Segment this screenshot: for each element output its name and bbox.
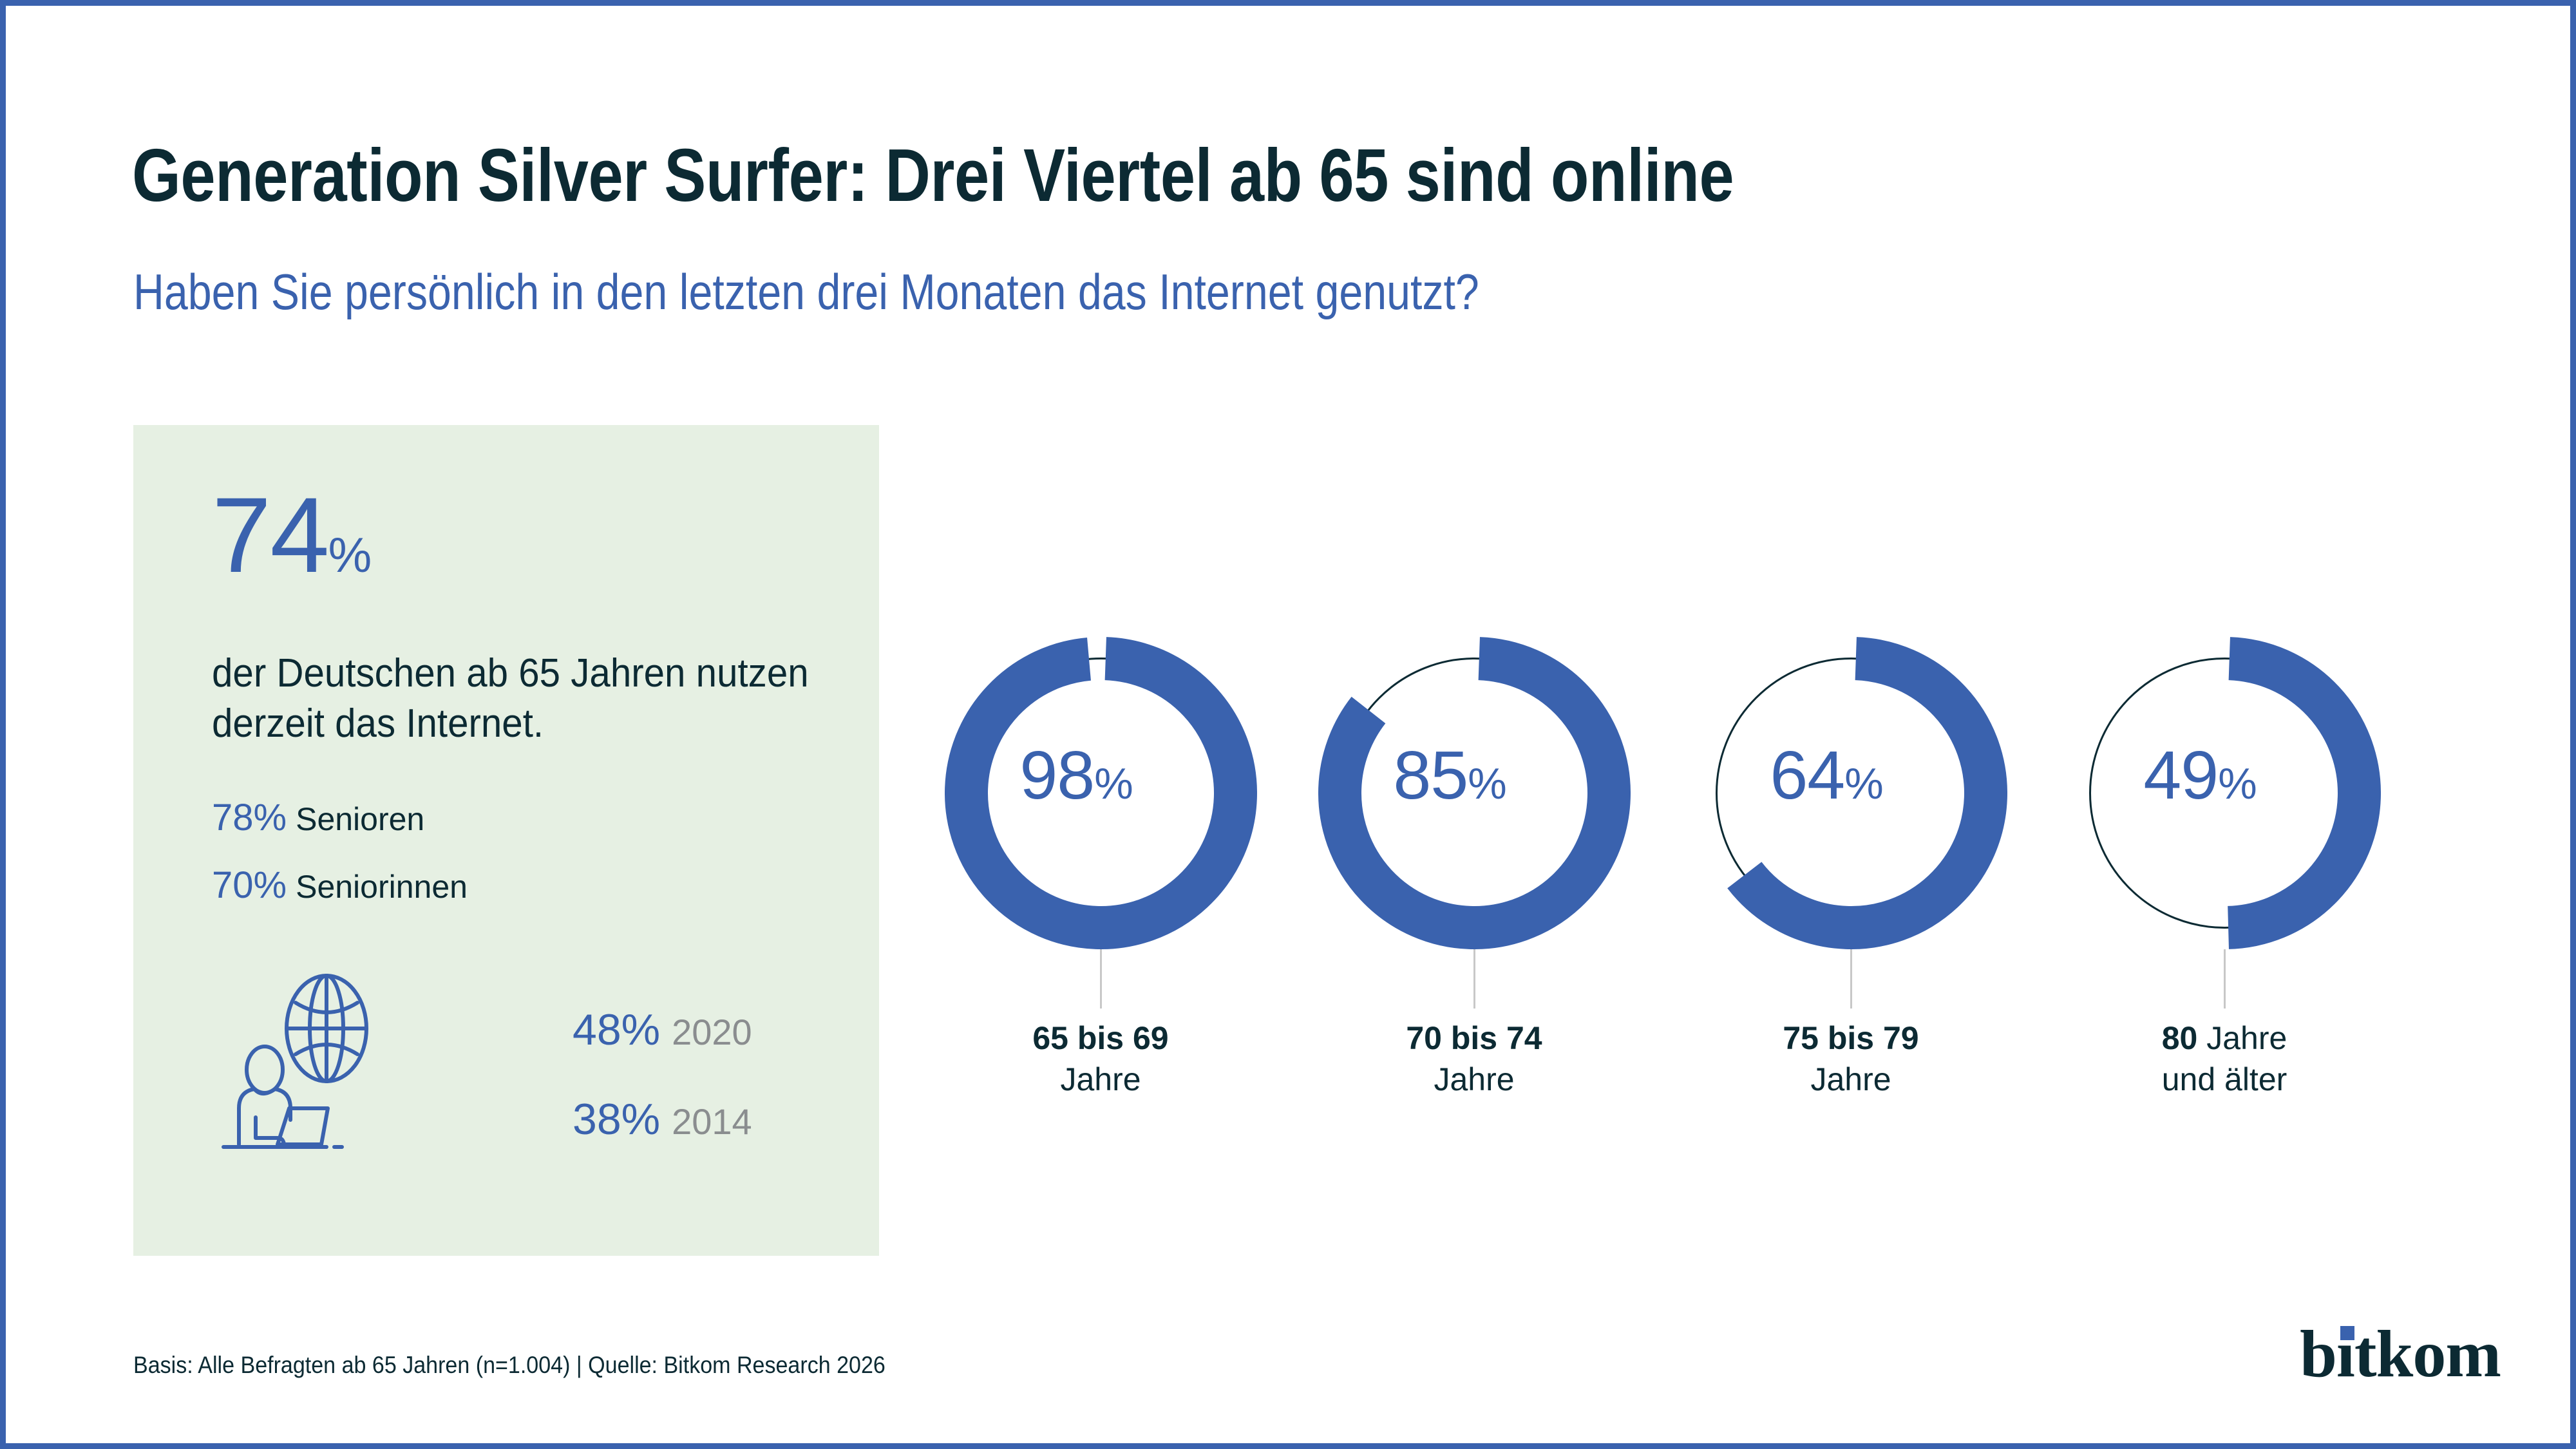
donut-label-unit: Jahre [1294,1059,1654,1101]
headline-stat: 74% [212,482,372,589]
history-year: 2014 [672,1101,752,1142]
donut-cell-80-plus: 49% 80 Jahre und älter [2044,624,2405,1113]
donut-label-range: 65 bis 69 [1032,1020,1168,1056]
history-value: 38% [573,1095,660,1144]
donut-value-70-74: 85% [1294,741,1606,810]
donut-connector-line [2224,949,2226,1009]
donut-chart-group: 98% 65 bis 69 Jahre 85% 70 bis 74 [920,624,2517,1113]
page-subtitle: Haben Sie persönlich in den letzten drei… [133,267,1479,317]
donut-label-range: 70 bis 74 [1406,1020,1542,1056]
donut-cell-65-69: 98% 65 bis 69 Jahre [920,624,1281,1113]
donut-label-65-69: 65 bis 69 Jahre [920,1018,1281,1100]
donut-label-75-79: 75 bis 79 Jahre [1671,1018,2031,1100]
donut-connector-line [1473,949,1475,1009]
donut-value-percent: % [1094,759,1133,808]
donut-label-70-74: 70 bis 74 Jahre [1294,1018,1654,1100]
history-row-2014: 38%2014 [573,1097,752,1141]
infographic-page: Generation Silver Surfer: Drei Viertel a… [0,0,2576,1449]
donut-value-number: 98 [1019,737,1094,813]
donut-connector-line [1100,949,1102,1009]
donut-connector-line [1850,949,1852,1009]
logo-dot-icon [2340,1326,2354,1340]
donut-label-range-suffix: Jahre [2197,1020,2287,1056]
donut-value-80-plus: 49% [2044,741,2356,810]
donut-value-number: 64 [1770,737,1844,813]
donut-label-unit: Jahre [920,1059,1281,1101]
donut-label-80-plus: 80 Jahre und älter [2044,1018,2405,1100]
breakdown-row-seniorinnen: 70%Seniorinnen [212,867,468,904]
breakdown-label: Senioren [296,801,424,837]
history-value: 48% [573,1005,660,1054]
history-year: 2020 [672,1012,752,1052]
donut-value-percent: % [1468,759,1506,808]
donut-value-75-79: 64% [1671,741,1983,810]
breakdown-value: 70% [212,864,287,906]
donut-label-unit: und älter [2044,1059,2405,1101]
donut-cell-70-74: 85% 70 bis 74 Jahre [1294,624,1654,1113]
headline-stat-value: 74 [212,476,328,595]
source-note: Basis: Alle Befragten ab 65 Jahren (n=1.… [133,1352,885,1379]
donut-value-percent: % [2218,759,2257,808]
headline-stat-percent: % [328,528,372,583]
breakdown-row-senioren: 78%Senioren [212,799,424,837]
person-laptop-globe-icon [211,972,404,1165]
page-title: Generation Silver Surfer: Drei Viertel a… [132,138,1734,213]
donut-label-range: 80 [2162,1020,2198,1056]
donut-value-percent: % [1844,759,1883,808]
donut-value-65-69: 98% [920,741,1233,810]
donut-label-range: 75 bis 79 [1783,1020,1918,1056]
history-row-2020: 48%2020 [573,1008,752,1052]
breakdown-label: Seniorinnen [296,869,468,905]
donut-cell-75-79: 64% 75 bis 79 Jahre [1671,624,2031,1113]
bitkom-logo: bitkom [2300,1321,2501,1388]
donut-label-unit: Jahre [1671,1059,2031,1101]
donut-value-number: 85 [1393,737,1468,813]
headline-stat-description: der Deutschen ab 65 Jahren nutzen derzei… [212,649,817,748]
bitkom-wordmark: bitkom [2300,1317,2501,1391]
donut-value-number: 49 [2143,737,2218,813]
breakdown-value: 78% [212,797,287,838]
